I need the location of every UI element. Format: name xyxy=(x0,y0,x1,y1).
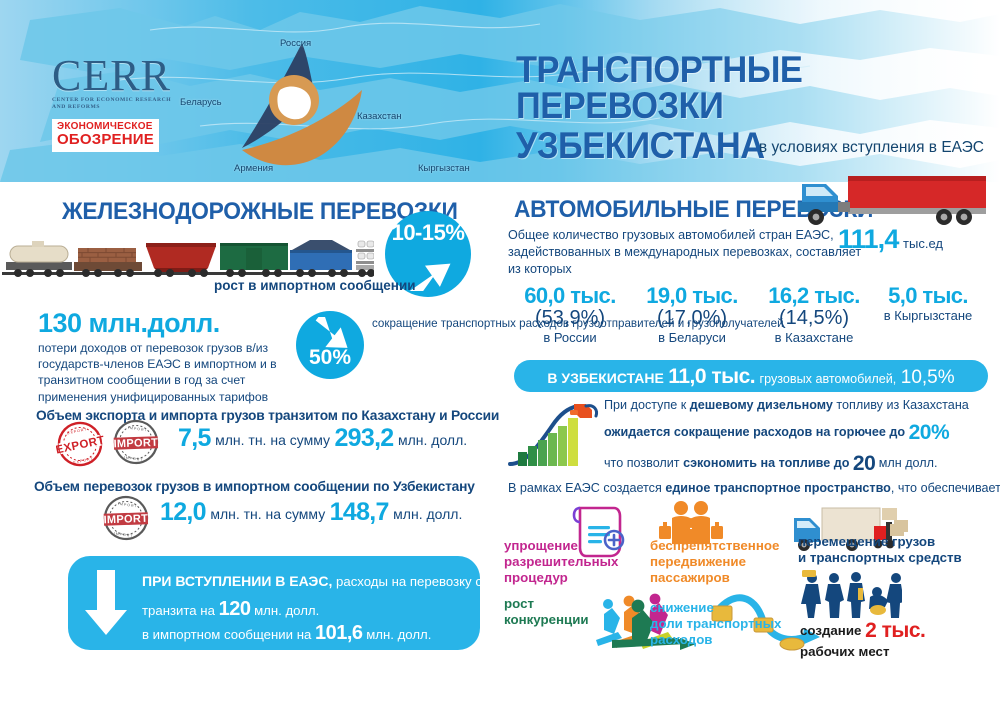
svg-text:EXPORT: EXPORT xyxy=(67,427,88,435)
country-stat-0: 60,0 тыс.(53,9%)в России xyxy=(508,284,632,346)
map-label-2: Казахстан xyxy=(357,111,402,122)
country-stat-1: 19,0 тыс.(17,0%)в Беларуси xyxy=(630,284,754,346)
fuel-line3-a: что позволит xyxy=(604,456,683,470)
infographic-page: CERR CENTER FOR ECONOMIC RESEARCH AND RE… xyxy=(0,0,1000,707)
rail-import-heading: Объем перевозок грузов в импортном сообщ… xyxy=(34,479,475,495)
arrow-down-icon xyxy=(84,570,128,636)
country-name: в России xyxy=(508,330,632,346)
uzbekistan-fleet-callout: В УЗБЕКИСТАНЕ 11,0 тыс. грузовых автомоб… xyxy=(514,360,988,392)
country-name: в Казахстане xyxy=(752,330,876,346)
rail-import-amount-unit: млн. долл. xyxy=(393,506,462,522)
country-percent: (14,5%) xyxy=(752,307,876,329)
map-label-4: Кыргызстан xyxy=(418,163,470,174)
fuel-line1-a: При доступе к xyxy=(604,398,690,412)
single-transport-space-line: В рамках ЕАЭС создается единое транспорт… xyxy=(508,481,1000,495)
map-label-3: Армения xyxy=(234,163,273,174)
road-total-unit: тыс.ед xyxy=(903,236,943,251)
svg-text:IMPORT: IMPORT xyxy=(128,426,148,433)
country-value: 19,0 тыс. xyxy=(630,284,754,307)
rail-loss-value: 130 млн.долл. xyxy=(38,310,298,337)
rail-transit-values: 7,5 млн. тн. на сумму 293,2 млн. долл. xyxy=(178,424,467,453)
benefit-label-3: ростконкуренции xyxy=(504,596,589,628)
country-percent: (17,0%) xyxy=(630,307,754,329)
rail-reduction-badge: 50% xyxy=(296,311,364,379)
savings-transit-post: млн. долл. xyxy=(250,603,319,618)
freight-train-icon xyxy=(2,228,374,284)
fuel-line-2: ожидается сокращение расходов на горючее… xyxy=(604,422,992,443)
uzbekistan-value: 11,0 тыс. xyxy=(668,365,755,388)
svg-text:IMPORT: IMPORT xyxy=(118,502,138,509)
uzbekistan-desc: грузовых автомобилей, xyxy=(760,372,897,386)
savings-line-3: в импортном сообщении на 101,6 млн. долл… xyxy=(142,622,431,645)
road-intro-line-3: из которых xyxy=(508,262,572,276)
fuel-line1-c: топливу из Казахстана xyxy=(833,398,969,412)
fuel-savings-text: При доступе к дешевому дизельному топлив… xyxy=(604,399,992,484)
road-total-value: 111,4 xyxy=(838,224,899,254)
savings-line-1: ПРИ ВСТУПЛЕНИИ В ЕАЭС, расходы на перево… xyxy=(142,573,529,589)
savings-lead-rest: расходы на перевозку снизятся xyxy=(332,574,529,589)
savings-transit-pre: транзита на xyxy=(142,603,219,618)
map-label-1: Беларусь xyxy=(180,97,222,108)
uzbekistan-fleet-line: В УЗБЕКИСТАНЕ 11,0 тыс. грузовых автомоб… xyxy=(514,365,988,389)
fuel-line2-a: ожидается сокращение расходов на горючее… xyxy=(604,425,909,439)
ekonomicheskoe-obozrenie-badge: ЭКОНОМИЧЕСКОЕ ОБОЗРЕНИЕ xyxy=(52,119,159,152)
rail-transit-tonnage: 7,5 xyxy=(178,424,211,452)
benefit-label-1: беспрепятственноепередвижениепассажиров xyxy=(650,538,779,587)
savings-import-post: млн. долл. xyxy=(363,627,432,642)
fuel-line3-c: млн долл. xyxy=(875,456,937,470)
fuel-reduction-percent: 20% xyxy=(909,421,950,444)
rail-transit-tonnage-unit: млн. тн. на сумму xyxy=(215,432,330,448)
road-intro-line-1: Общее количество грузовых автомобилей ст… xyxy=(508,228,834,242)
rail-reduction-value: 50% xyxy=(296,346,364,370)
rail-import-values: 12,0 млн. тн. на сумму 148,7 млн. долл. xyxy=(160,498,462,527)
page-subtitle: в условиях вступления в ЕАЭС xyxy=(759,139,984,157)
fuel-line-3: что позволит сэкономить на топливе до 20… xyxy=(604,453,992,474)
rail-import-amount: 148,7 xyxy=(330,498,389,526)
country-value: 60,0 тыс. xyxy=(508,284,632,307)
import-stamp-icon-2: IMPORT IMPORT IMPORT xyxy=(102,494,150,542)
export-stamp-icon: EXPORT EXPORT EXPORT xyxy=(56,420,104,468)
rail-growth-caption: рост в импортном сообщении xyxy=(214,278,416,293)
fuel-line3-b: сэкономить на топливе до xyxy=(683,456,853,470)
map-label-0: Россия xyxy=(280,38,311,49)
workers-icon xyxy=(798,568,902,620)
country-stat-2: 16,2 тыс.(14,5%)в Казахстане xyxy=(752,284,876,346)
jobs-pre: создание xyxy=(800,623,865,638)
country-stat-3: 5,0 тыс.в Кыргызстане xyxy=(866,284,990,324)
space-line-c: , что обеспечивает xyxy=(891,481,1000,495)
savings-import-pre: в импортном сообщении на xyxy=(142,627,315,642)
benefit-label-4: снижениедоли транспортныхрасходов xyxy=(650,600,781,649)
rail-savings-callout: ПРИ ВСТУПЛЕНИИ В ЕАЭС, расходы на перево… xyxy=(68,556,480,650)
fuel-line1-b: дешевому дизельному xyxy=(690,398,833,412)
uzbekistan-label: В УЗБЕКИСТАНЕ xyxy=(547,370,663,386)
fuel-savings-amount: 20 xyxy=(853,452,875,475)
benefit-label-0: упрощениеразрешительныхпроцедур xyxy=(504,538,618,587)
rail-growth-value: 10-15% xyxy=(385,220,471,246)
rail-loss-block: 130 млн.долл. потери доходов от перевозо… xyxy=(38,310,298,405)
jobs-created-label: создание 2 тыс. рабочих мест xyxy=(800,618,925,661)
fuel-line-1: При доступе к дешевому дизельному топлив… xyxy=(604,399,992,412)
rail-transit-amount-unit: млн. долл. xyxy=(398,432,467,448)
country-name: в Беларуси xyxy=(630,330,754,346)
svg-text:IMPORT: IMPORT xyxy=(113,437,158,451)
rail-import-tonnage: 12,0 xyxy=(160,498,206,526)
cerr-tagline: CENTER FOR ECONOMIC RESEARCH AND REFORMS xyxy=(52,97,180,111)
badge-line-2: ОБОЗРЕНИЕ xyxy=(57,132,154,148)
space-line-b: единое транспортное пространство xyxy=(665,481,891,495)
uzbekistan-percent: 10,5% xyxy=(901,367,955,388)
country-value: 16,2 тыс. xyxy=(752,284,876,307)
country-percent: (53,9%) xyxy=(508,307,632,329)
rail-transit-heading: Объем экспорта и импорта грузов транзито… xyxy=(36,408,499,424)
header-banner: CERR CENTER FOR ECONOMIC RESEARCH AND RE… xyxy=(0,0,1000,182)
cerr-logo: CERR CENTER FOR ECONOMIC RESEARCH AND RE… xyxy=(52,56,180,152)
import-stamp-icon: IMPORT IMPORT IMPORT xyxy=(112,418,160,466)
savings-import-value: 101,6 xyxy=(315,622,363,644)
rail-transit-amount: 293,2 xyxy=(334,424,393,452)
road-intro-line-2: задействованных в международных перевозк… xyxy=(508,245,861,259)
jobs-post: рабочих мест xyxy=(800,644,889,659)
fuel-savings-chart-icon xyxy=(508,400,602,472)
country-name: в Кыргызстане xyxy=(866,308,990,324)
country-value: 5,0 тыс. xyxy=(866,284,990,307)
jobs-count: 2 тыс. xyxy=(865,619,925,642)
rail-loss-description: потери доходов от перевозок грузов в/из … xyxy=(38,340,298,405)
benefit-label-2: перемещение грузови транспортных средств xyxy=(798,534,962,566)
savings-transit-value: 120 xyxy=(219,598,251,620)
svg-text:EXPORT: EXPORT xyxy=(56,434,104,456)
svg-text:IMPORT: IMPORT xyxy=(103,513,148,527)
savings-line-2: транзита на 120 млн. долл. xyxy=(142,598,319,621)
semi-truck-icon xyxy=(792,172,992,232)
road-total-fleet: 111,4 тыс.ед xyxy=(838,224,943,255)
title-line-1: ТРАНСПОРТНЫЕ ПЕРЕВОЗКИ xyxy=(516,52,953,125)
space-line-a: В рамках ЕАЭС создается xyxy=(508,481,665,495)
savings-lead: ПРИ ВСТУПЛЕНИИ В ЕАЭС, xyxy=(142,573,332,589)
cerr-wordmark: CERR xyxy=(52,56,180,96)
rail-import-tonnage-unit: млн. тн. на сумму xyxy=(210,506,325,522)
